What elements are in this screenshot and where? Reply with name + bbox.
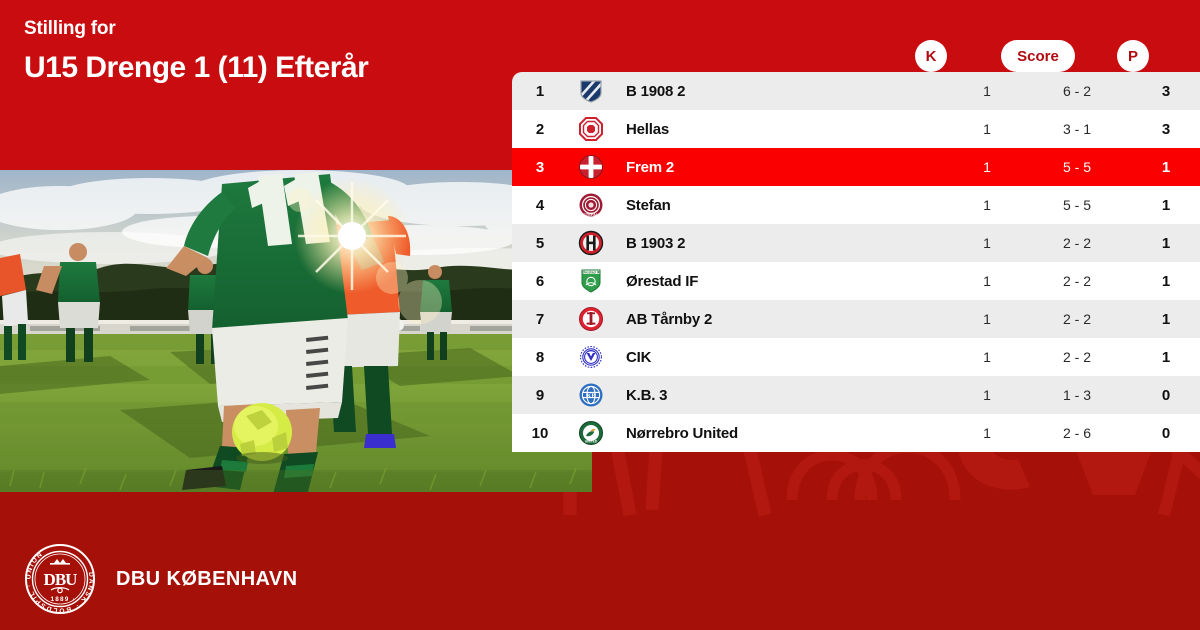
svg-text:KB: KB (587, 393, 596, 399)
row-matches: 1 (952, 83, 1022, 99)
row-score: 1 - 3 (1022, 387, 1132, 403)
row-points: 3 (1132, 83, 1200, 100)
row-score: 2 - 2 (1022, 235, 1132, 251)
row-matches: 1 (952, 197, 1022, 213)
svg-text:· 1889 ·: · 1889 · (44, 596, 76, 603)
row-matches: 1 (952, 235, 1022, 251)
b1903-badge (568, 230, 614, 256)
footer-label: DBU KØBENHAVN (116, 568, 298, 591)
table-row[interactable]: 8 CIK12 - 21 (512, 338, 1200, 376)
row-points: 1 (1132, 349, 1200, 366)
b1908-badge (568, 78, 614, 104)
cik-badge (568, 344, 614, 370)
abtaarnby-badge (568, 306, 614, 332)
stefan-badge: STEFAN (568, 192, 614, 218)
row-score: 2 - 2 (1022, 311, 1132, 327)
row-points: 1 (1132, 235, 1200, 252)
row-points: 1 (1132, 311, 1200, 328)
row-team-name[interactable]: B 1903 2 (614, 235, 952, 252)
row-position: 7 (512, 311, 568, 328)
row-position: 4 (512, 197, 568, 214)
svg-text:B: B (583, 159, 586, 164)
row-position: 9 (512, 387, 568, 404)
row-score: 2 - 2 (1022, 273, 1132, 289)
column-header-matches: K (915, 40, 947, 72)
row-team-name[interactable]: Nørrebro United (614, 425, 952, 442)
row-points: 0 (1132, 425, 1200, 442)
svg-text:DBU: DBU (44, 570, 78, 589)
column-header-points: P (1117, 40, 1149, 72)
table-row[interactable]: 6 Ørestad IF Ørestad IF12 - 21 (512, 262, 1200, 300)
row-score: 2 - 6 (1022, 425, 1132, 441)
table-row[interactable]: 4 STEFAN Stefan15 - 51 (512, 186, 1200, 224)
row-position: 5 (512, 235, 568, 252)
svg-text:Ørestad IF: Ørestad IF (582, 271, 601, 275)
table-row[interactable]: 1 B 1908 216 - 23 (512, 72, 1200, 110)
football-match-photo (0, 170, 592, 492)
row-points: 1 (1132, 197, 1200, 214)
table-row[interactable]: 2 Hellas13 - 13 (512, 110, 1200, 148)
row-team-name[interactable]: Hellas (614, 121, 952, 138)
header-kicker: Stilling for (24, 18, 494, 41)
row-matches: 1 (952, 159, 1022, 175)
header-block: Stilling for U15 Drenge 1 (11) Efterår (24, 18, 494, 86)
row-position: 2 (512, 121, 568, 138)
row-score: 2 - 2 (1022, 349, 1132, 365)
row-points: 0 (1132, 387, 1200, 404)
orestad-badge: Ørestad IF (568, 268, 614, 294)
dbu-seal-logo: DANSK · BOLDSPIL · UNION DBU · 1889 · (24, 543, 96, 615)
row-position: 10 (512, 425, 568, 442)
row-team-name[interactable]: B 1908 2 (614, 83, 952, 100)
row-matches: 1 (952, 121, 1022, 137)
table-row[interactable]: 10 UNITED Nørrebro United12 - 60 (512, 414, 1200, 452)
column-header-score: Score (1001, 40, 1075, 72)
table-row[interactable]: 3 BF 1886 Frem 215 - 51 (512, 148, 1200, 186)
row-score: 3 - 1 (1022, 121, 1132, 137)
kb-badge: KB (568, 382, 614, 408)
row-position: 6 (512, 273, 568, 290)
row-team-name[interactable]: Frem 2 (614, 159, 952, 176)
row-matches: 1 (952, 273, 1022, 289)
frem-badge: BF 1886 (568, 154, 614, 180)
svg-text:F: F (596, 159, 599, 164)
row-score: 5 - 5 (1022, 197, 1132, 213)
row-matches: 1 (952, 349, 1022, 365)
row-matches: 1 (952, 311, 1022, 327)
row-team-name[interactable]: K.B. 3 (614, 387, 952, 404)
footer: DANSK · BOLDSPIL · UNION DBU · 1889 · DB… (24, 543, 298, 615)
row-position: 8 (512, 349, 568, 366)
row-score: 6 - 2 (1022, 83, 1132, 99)
page-title: U15 Drenge 1 (11) Efterår (24, 49, 494, 87)
row-points: 1 (1132, 273, 1200, 290)
standings-table: 1 B 1908 216 - 232 Hellas13 - 133 (512, 72, 1200, 452)
table-row[interactable]: 5 B 1903 212 - 21 (512, 224, 1200, 262)
row-team-name[interactable]: Ørestad IF (614, 273, 952, 290)
table-row[interactable]: 9 KB K.B. 311 - 30 (512, 376, 1200, 414)
row-matches: 1 (952, 425, 1022, 441)
norrebro-badge: UNITED (568, 420, 614, 446)
row-points: 3 (1132, 121, 1200, 138)
row-matches: 1 (952, 387, 1022, 403)
table-row[interactable]: 7 AB Tårnby 212 - 21 (512, 300, 1200, 338)
hellas-badge (568, 116, 614, 142)
row-points: 1 (1132, 159, 1200, 176)
row-score: 5 - 5 (1022, 159, 1132, 175)
row-position: 1 (512, 83, 568, 100)
row-team-name[interactable]: CIK (614, 349, 952, 366)
svg-text:STEFAN: STEFAN (583, 212, 599, 217)
row-team-name[interactable]: AB Tårnby 2 (614, 311, 952, 328)
row-team-name[interactable]: Stefan (614, 197, 952, 214)
row-position: 3 (512, 159, 568, 176)
